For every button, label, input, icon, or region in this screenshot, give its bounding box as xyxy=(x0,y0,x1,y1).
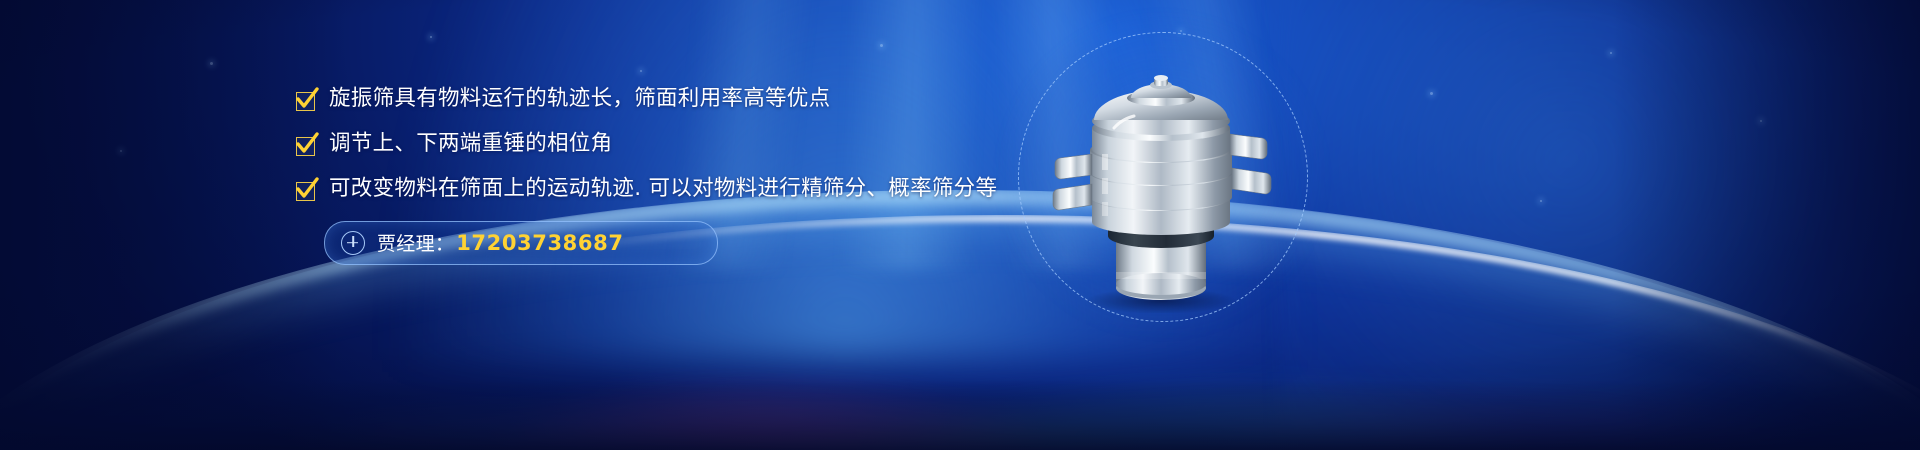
checkbox-checked-icon xyxy=(296,92,315,111)
list-item: 可改变物料在筛面上的运动轨迹. 可以对物料进行精筛分、概率筛分等 xyxy=(296,176,1056,203)
checkbox-checked-icon xyxy=(296,137,315,156)
feature-text: 可改变物料在筛面上的运动轨迹. 可以对物料进行精筛分、概率筛分等 xyxy=(329,176,997,203)
list-item: 调节上、下两端重锤的相位角 xyxy=(296,131,1056,158)
plus-circle-icon xyxy=(341,231,365,255)
feature-text: 旋振筛具有物料运行的轨迹长，筛面利用率高等优点 xyxy=(329,86,830,113)
contact-button[interactable]: 贾经理： 17203738687 xyxy=(324,221,718,265)
list-item: 旋振筛具有物料运行的轨迹长，筛面利用率高等优点 xyxy=(296,86,1056,113)
promo-banner: 旋振筛具有物料运行的轨迹长，筛面利用率高等优点 调节上、下两端重锤的相位角 可改… xyxy=(0,0,1920,450)
feature-list: 旋振筛具有物料运行的轨迹长，筛面利用率高等优点 调节上、下两端重锤的相位角 可改… xyxy=(296,86,1056,265)
contact-label: 贾经理： xyxy=(377,229,454,256)
product-illustration xyxy=(1000,18,1340,348)
checkbox-checked-icon xyxy=(296,182,315,201)
rotary-vibrating-sieve-icon xyxy=(1036,58,1286,313)
contact-phone-number: 17203738687 xyxy=(456,231,623,255)
feature-text: 调节上、下两端重锤的相位角 xyxy=(329,131,612,158)
